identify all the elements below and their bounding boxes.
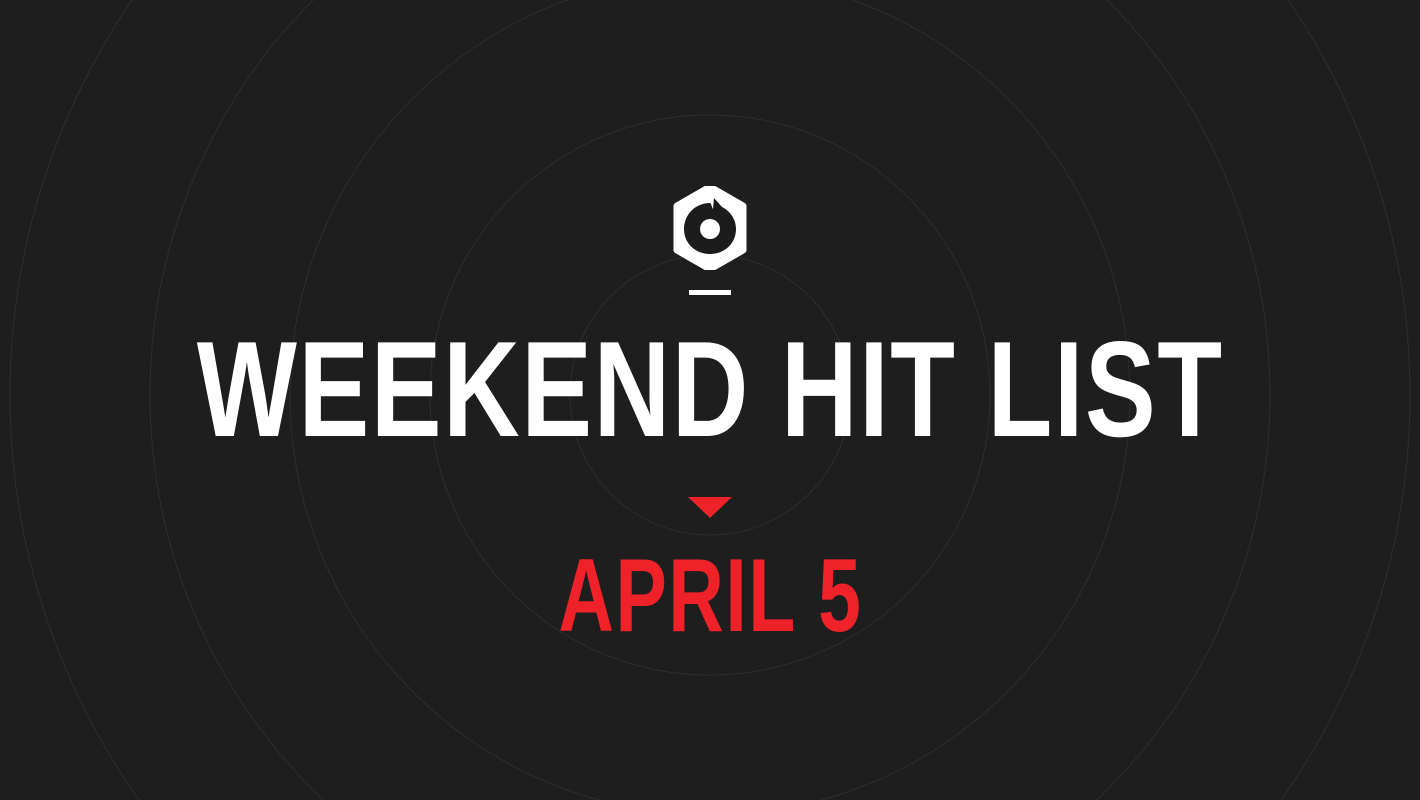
date-label: APRIL 5	[558, 544, 862, 648]
slide-canvas: WEEKEND HIT LIST APRIL 5	[0, 0, 1420, 800]
slide-content: WEEKEND HIT LIST APRIL 5	[0, 0, 1420, 800]
title-divider-rule	[689, 290, 731, 295]
red-triangle-pointer	[688, 497, 732, 518]
page-title: WEEKEND HIT LIST	[197, 321, 1224, 457]
hexagon-flame-icon	[677, 187, 743, 269]
brand-logo	[673, 186, 747, 270]
